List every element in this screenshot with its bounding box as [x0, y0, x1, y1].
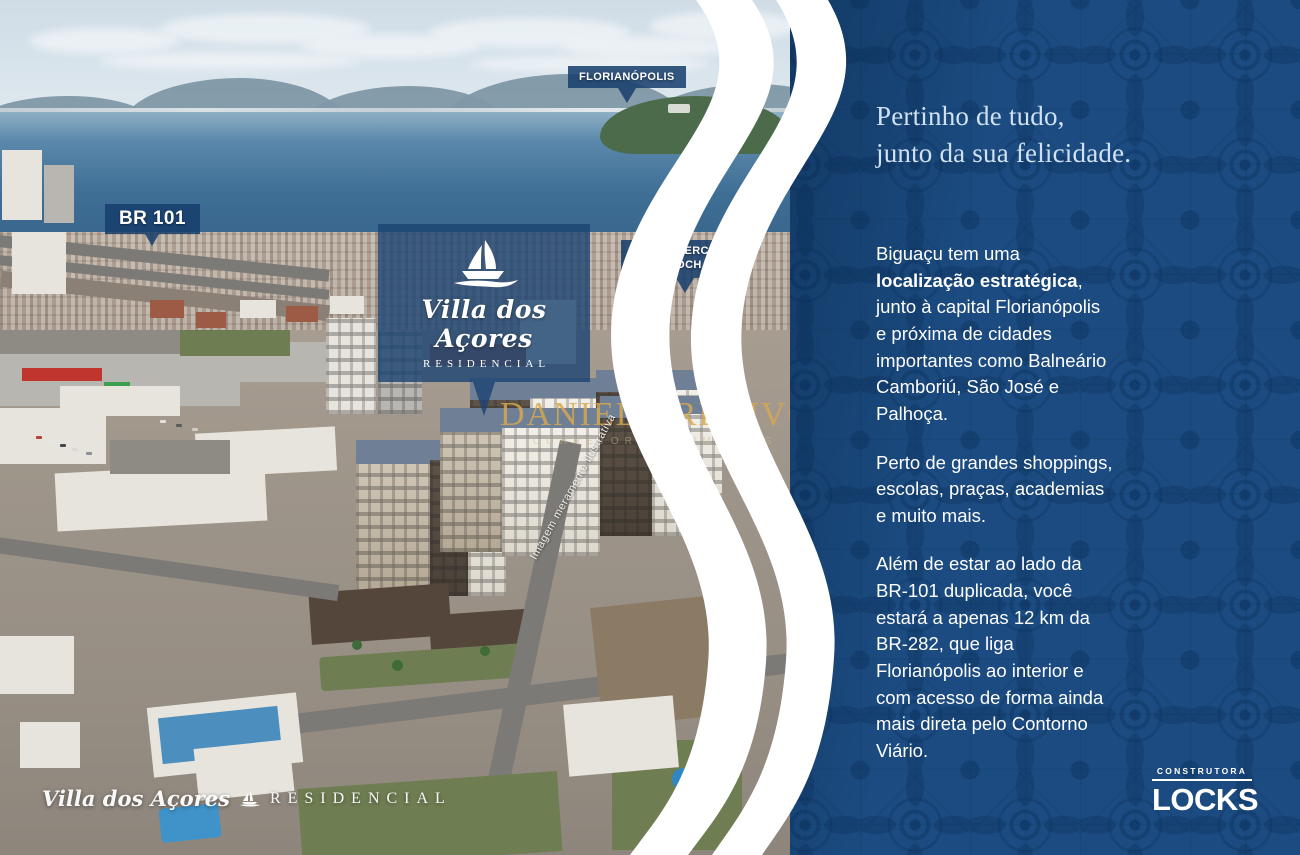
badge-pointer-icon [473, 382, 495, 416]
project-badge-box: Villa dos Açores RESIDENCIAL [378, 224, 590, 382]
pin-pointer-icon [145, 234, 159, 246]
wave-divider [600, 0, 920, 855]
map-pin-br101[interactable]: BR 101 [105, 204, 200, 246]
panel-content: Pertinho de tudo, junto da sua felicidad… [876, 98, 1176, 764]
project-badge[interactable]: Villa dos Açores RESIDENCIAL [378, 224, 590, 416]
paragraph-1-pre: Biguaçu tem uma [876, 243, 1020, 264]
builder-logo-top: CONSTRUTORA [1152, 766, 1252, 781]
sailboat-icon [438, 238, 530, 288]
sailboat-icon-small [239, 791, 261, 807]
paragraph-2: Perto de grandes shoppings, escolas, pra… [876, 450, 1176, 530]
project-badge-subtitle: RESIDENCIAL [388, 358, 580, 370]
promo-flyer: FLORIANÓPOLIS SUPERMERCADO KOCH BR 101 V… [0, 0, 1300, 855]
page-headline: Pertinho de tudo, junto da sua felicidad… [876, 98, 1176, 173]
paragraph-3: Além de estar ao lado da BR-101 duplicad… [876, 551, 1176, 764]
paragraph-1: Biguaçu tem uma localização estratégica,… [876, 215, 1176, 428]
brand-watermark-name: Villa dos Açores [42, 786, 230, 811]
brand-watermark-suffix: RESIDENCIAL [270, 790, 452, 808]
paragraph-1-bold: localização estratégica [876, 270, 1078, 291]
body-copy: Biguaçu tem uma localização estratégica,… [876, 215, 1176, 765]
builder-logo-main: LOCKS [1152, 784, 1252, 817]
map-pin-br101-label: BR 101 [105, 204, 200, 234]
brand-watermark: Villa dos Açores RESIDENCIAL [42, 786, 452, 811]
project-badge-name: Villa dos Açores [388, 295, 580, 353]
builder-logo[interactable]: CONSTRUTORA LOCKS [1152, 766, 1252, 817]
paragraph-1-post: , junto à capital Florianópolis e próxim… [876, 270, 1106, 424]
